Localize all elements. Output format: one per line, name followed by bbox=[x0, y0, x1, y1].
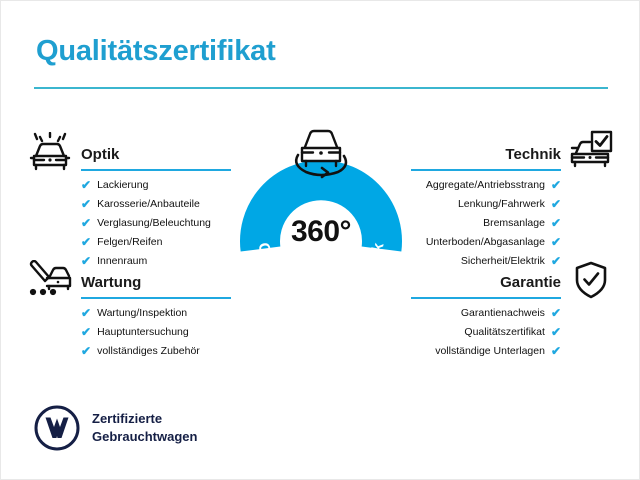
car-checkbox-icon bbox=[567, 130, 613, 170]
section-optik-title: Optik bbox=[81, 146, 119, 163]
list-item-label: vollständiges Zubehör bbox=[97, 346, 200, 357]
list-item: Lenkung/Fahrwerk ✔ bbox=[411, 198, 561, 210]
section-technik-header: Technik bbox=[411, 141, 561, 171]
section-optik-items: ✔ Lackierung ✔ Karosserie/Anbauteile ✔ V… bbox=[81, 179, 231, 267]
list-item: Aggregate/Antriebsstrang ✔ bbox=[411, 179, 561, 191]
footer-text: Zertifizierte Gebrauchtwagen bbox=[92, 410, 197, 445]
section-garantie-header: Garantie bbox=[411, 269, 561, 299]
check-icon: ✔ bbox=[551, 217, 561, 229]
list-item: ✔ Lackierung bbox=[81, 179, 231, 191]
check-icon: ✔ bbox=[81, 198, 91, 210]
section-garantie-divider bbox=[411, 297, 561, 299]
list-item: ✔ Verglasung/Beleuchtung bbox=[81, 217, 231, 229]
wrench-car-icon bbox=[27, 260, 73, 300]
section-garantie-title: Garantie bbox=[500, 274, 561, 291]
list-item: ✔ Hauptuntersuchung bbox=[81, 326, 231, 338]
section-garantie-items: Garantienachweis ✔ Qualitätszertifikat ✔… bbox=[411, 307, 561, 357]
check-icon: ✔ bbox=[551, 345, 561, 357]
list-item-label: Felgen/Reifen bbox=[97, 237, 162, 248]
footer-line-1: Zertifizierte bbox=[92, 410, 197, 428]
list-item: Sicherheit/Elektrik ✔ bbox=[411, 255, 561, 267]
check-icon: ✔ bbox=[81, 236, 91, 248]
check-icon: ✔ bbox=[81, 217, 91, 229]
section-wartung-divider bbox=[81, 297, 231, 299]
check-icon: ✔ bbox=[551, 198, 561, 210]
section-optik-header: Optik bbox=[81, 141, 231, 171]
list-item: ✔ Innenraum bbox=[81, 255, 231, 267]
list-item: vollständige Unterlagen ✔ bbox=[411, 345, 561, 357]
car-shine-icon bbox=[27, 132, 73, 172]
list-item: ✔ vollständiges Zubehör bbox=[81, 345, 231, 357]
section-technik-divider bbox=[411, 169, 561, 171]
section-wartung: Wartung ✔ Wartung/Inspektion ✔ Hauptunte… bbox=[81, 269, 231, 364]
check-icon: ✔ bbox=[81, 179, 91, 191]
list-item-label: Garantienachweis bbox=[461, 308, 545, 319]
list-item-label: Innenraum bbox=[97, 256, 147, 267]
title-divider bbox=[34, 87, 608, 89]
list-item: Qualitätszertifikat ✔ bbox=[411, 326, 561, 338]
shield-check-icon bbox=[571, 260, 611, 300]
list-item: Unterboden/Abgasanlage ✔ bbox=[411, 236, 561, 248]
list-item-label: Qualitätszertifikat bbox=[464, 327, 545, 338]
badge-ring-label: Gebrauchtwagen-Check bbox=[254, 241, 387, 303]
check-icon: ✔ bbox=[551, 307, 561, 319]
list-item-label: Lackierung bbox=[97, 180, 148, 191]
footer-line-2: Gebrauchtwagen bbox=[92, 428, 197, 446]
list-item: ✔ Karosserie/Anbauteile bbox=[81, 198, 231, 210]
list-item-label: Wartung/Inspektion bbox=[97, 308, 187, 319]
section-garantie: Garantie Garantienachweis ✔ Qualitätszer… bbox=[411, 269, 561, 364]
svg-text:Gebrauchtwagen-Check: Gebrauchtwagen-Check bbox=[254, 241, 387, 303]
page-title: Qualitätszertifikat bbox=[36, 35, 276, 68]
list-item-label: Verglasung/Beleuchtung bbox=[97, 218, 211, 229]
check-icon: ✔ bbox=[81, 307, 91, 319]
badge-center-label: 360° bbox=[238, 215, 404, 249]
check-icon: ✔ bbox=[551, 255, 561, 267]
list-item-label: Hauptuntersuchung bbox=[97, 327, 189, 338]
check-icon: ✔ bbox=[81, 345, 91, 357]
car-rotate-360-icon bbox=[282, 121, 360, 183]
list-item: Garantienachweis ✔ bbox=[411, 307, 561, 319]
footer-brand: Zertifizierte Gebrauchtwagen bbox=[34, 405, 197, 451]
check-icon: ✔ bbox=[81, 255, 91, 267]
vw-logo-icon bbox=[34, 405, 80, 451]
section-wartung-title: Wartung bbox=[81, 274, 141, 291]
list-item: ✔ Felgen/Reifen bbox=[81, 236, 231, 248]
badge-360-gebrauchtwagen-check: Gebrauchtwagen-Check 360° bbox=[238, 153, 404, 319]
section-wartung-header: Wartung bbox=[81, 269, 231, 299]
list-item-label: Unterboden/Abgasanlage bbox=[426, 237, 545, 248]
section-optik-divider bbox=[81, 169, 231, 171]
section-wartung-items: ✔ Wartung/Inspektion ✔ Hauptuntersuchung… bbox=[81, 307, 231, 357]
certificate-page: Qualitätszertifikat Optik ✔ Lackierung ✔ bbox=[0, 0, 640, 480]
section-optik: Optik ✔ Lackierung ✔ Karosserie/Anbautei… bbox=[81, 141, 231, 274]
check-icon: ✔ bbox=[551, 236, 561, 248]
list-item-label: Bremsanlage bbox=[483, 218, 545, 229]
list-item-label: Karosserie/Anbauteile bbox=[97, 199, 200, 210]
list-item: Bremsanlage ✔ bbox=[411, 217, 561, 229]
list-item: ✔ Wartung/Inspektion bbox=[81, 307, 231, 319]
list-item-label: vollständige Unterlagen bbox=[435, 346, 545, 357]
list-item-label: Sicherheit/Elektrik bbox=[461, 256, 545, 267]
check-icon: ✔ bbox=[81, 326, 91, 338]
section-technik-title: Technik bbox=[505, 146, 561, 163]
list-item-label: Aggregate/Antriebsstrang bbox=[426, 180, 545, 191]
list-item-label: Lenkung/Fahrwerk bbox=[458, 199, 545, 210]
check-icon: ✔ bbox=[551, 179, 561, 191]
section-technik: Technik Aggregate/Antriebsstrang ✔ Lenku… bbox=[411, 141, 561, 274]
section-technik-items: Aggregate/Antriebsstrang ✔ Lenkung/Fahrw… bbox=[411, 179, 561, 267]
check-icon: ✔ bbox=[551, 326, 561, 338]
